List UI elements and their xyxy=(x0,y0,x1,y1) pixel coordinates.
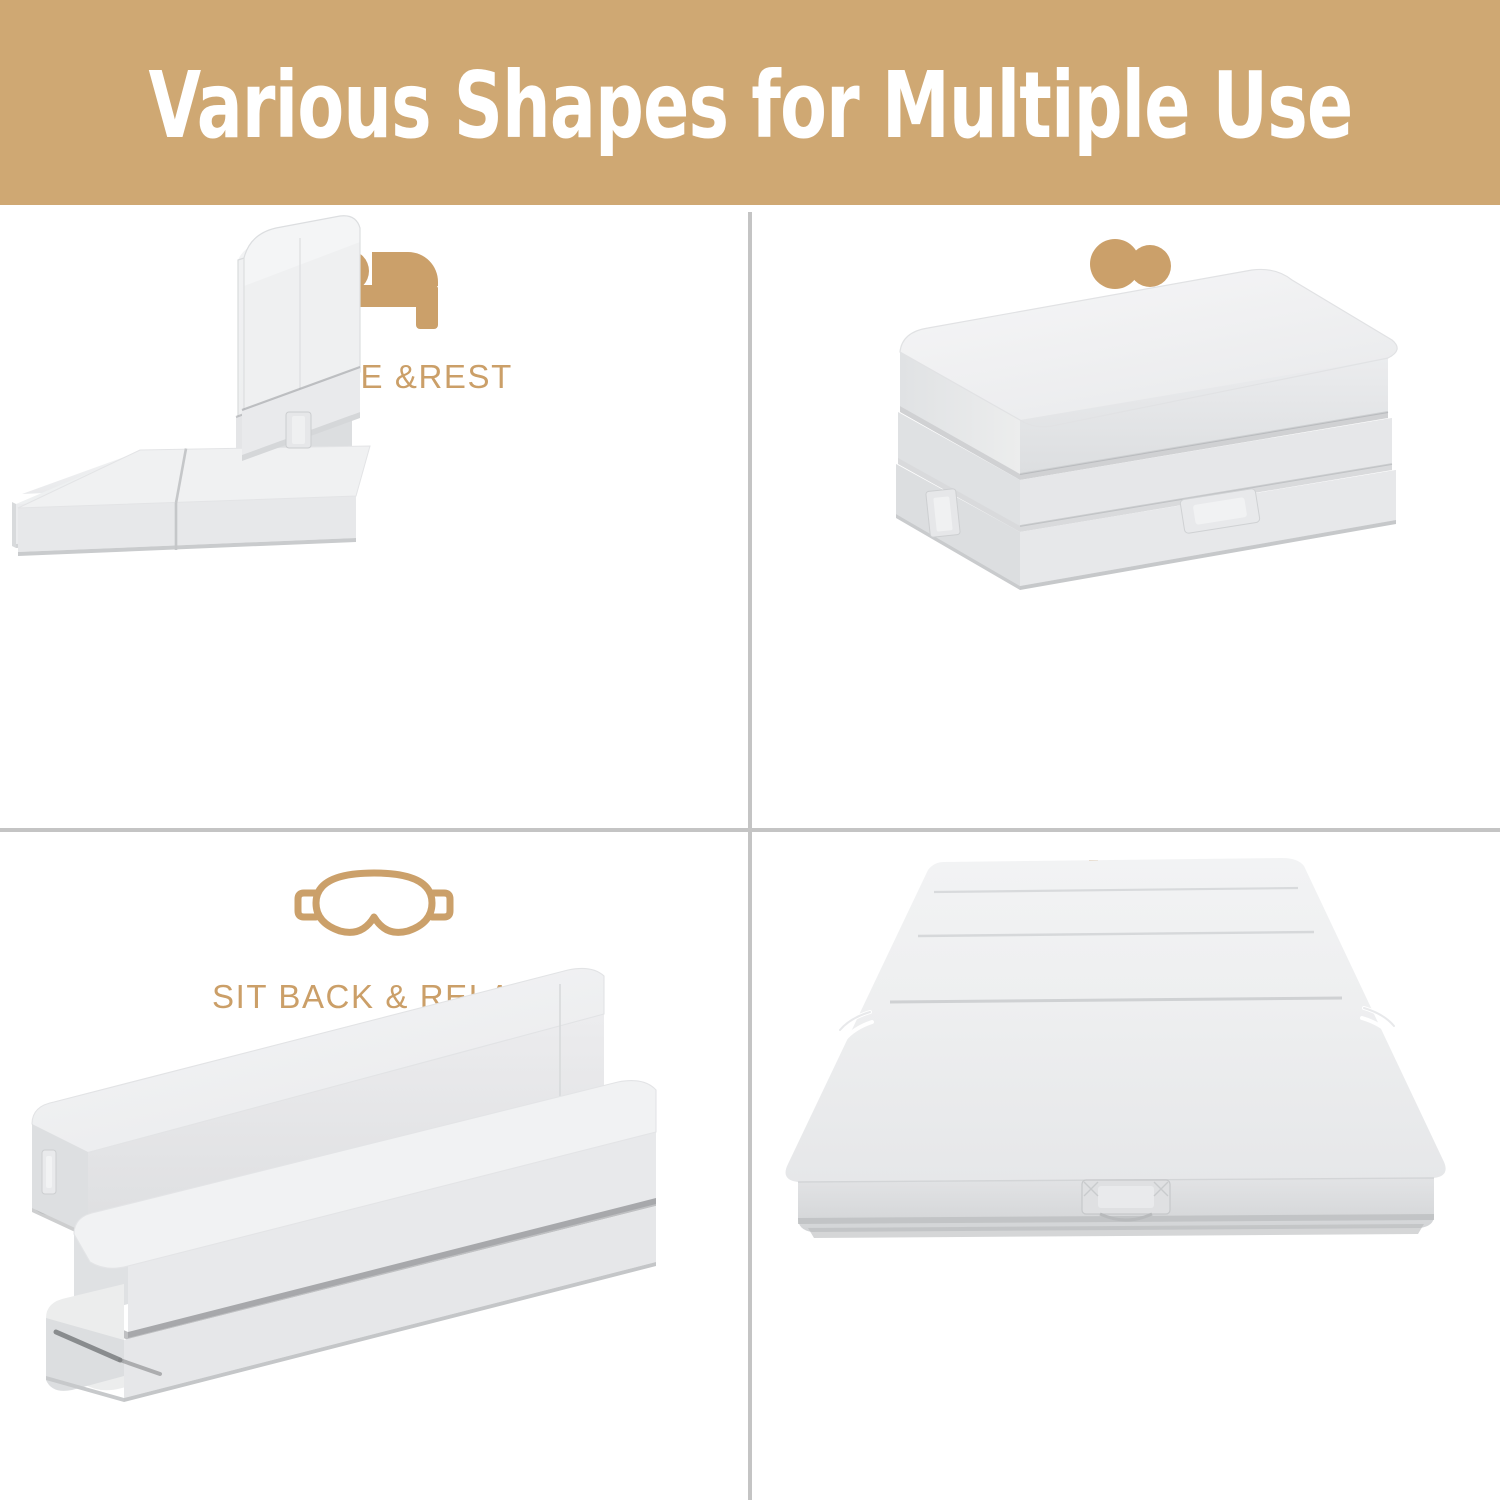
quadrant-additional-seating: ADDITIONAL SEATING xyxy=(752,212,1500,828)
quadrant-label-sit-back-relax: SIT BACK & RELAX xyxy=(212,978,536,1016)
quadrant-label-lounge-rest: LOUNGE &REST xyxy=(235,358,513,396)
quadrant-header-lounge-rest: LOUNGE &REST xyxy=(0,212,748,422)
quadrant-header-sit-back-relax: SIT BACK & RELAX xyxy=(0,832,748,1042)
crescent-moon-stars-icon xyxy=(1063,852,1189,960)
infographic-page: Various Shapes for Multiple Use LOUNGE &… xyxy=(0,0,1500,1500)
page-title: Various Shapes for Multiple Use xyxy=(148,60,1352,152)
quadrant-label-additional-seating: ADDITIONAL SEATING xyxy=(937,358,1314,396)
quadrant-header-additional-seating: ADDITIONAL SEATING xyxy=(752,212,1500,422)
quadrant-sit-back-relax: SIT BACK & RELAX xyxy=(0,832,748,1500)
quadrant-lounge-rest: LOUNGE &REST xyxy=(0,212,748,828)
bed-person-icon xyxy=(300,232,448,340)
quadrant-label-sleepovers: SLEEPOVERS xyxy=(1007,978,1245,1016)
header-band: Various Shapes for Multiple Use xyxy=(0,0,1500,205)
two-people-icon xyxy=(1066,232,1186,340)
sleep-mask-icon xyxy=(286,852,462,960)
quadrant-header-sleepovers: SLEEPOVERS xyxy=(752,832,1500,1042)
quadrant-sleepovers: SLEEPOVERS xyxy=(752,832,1500,1500)
